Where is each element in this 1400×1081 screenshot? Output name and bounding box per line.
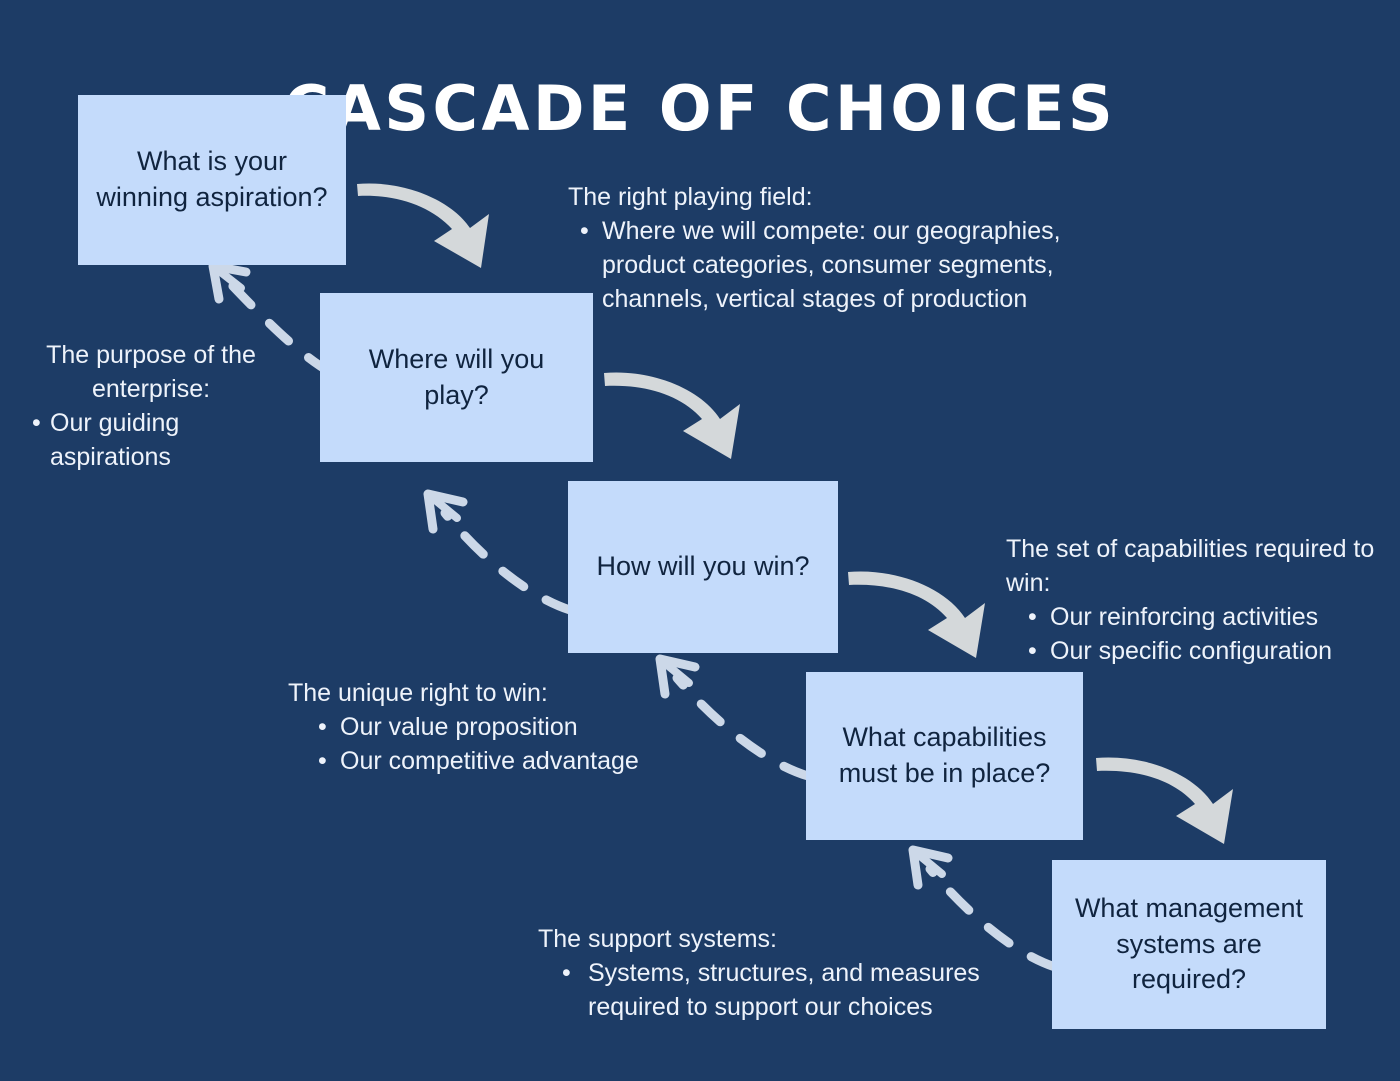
note-bullet: Systems, structures, and measures requir… — [548, 956, 1048, 1024]
note-right-to-win-heading: The unique right to win: — [288, 676, 698, 710]
node-management-systems[interactable]: What management systems are required? — [1052, 860, 1326, 1029]
note-right-to-win-bullets: Our value proposition Our competitive ad… — [306, 710, 698, 778]
node-label: How will you win? — [596, 549, 809, 585]
infographic-canvas: CASCADE OF CHOICES What is your winning … — [0, 0, 1400, 1081]
note-bullet: Our value proposition — [306, 710, 698, 744]
solid-arrow-capabilities-to-systems — [1096, 757, 1233, 844]
note-bullet: Our specific configuration — [1016, 634, 1396, 668]
note-bullet: Where we will compete: our geographies, … — [568, 214, 1128, 316]
note-right-to-win: The unique right to win: Our value propo… — [288, 676, 698, 778]
note-purpose: The purpose of the enterprise: Our guidi… — [20, 338, 282, 474]
note-playing-field-bullets: Where we will compete: our geographies, … — [568, 214, 1128, 316]
note-capabilities: The set of capabilities required to win:… — [1006, 532, 1396, 668]
node-where-to-play[interactable]: Where will you play? — [320, 293, 593, 462]
node-how-to-win[interactable]: How will you win? — [568, 481, 838, 653]
solid-arrow-aspiration-to-play — [357, 183, 489, 268]
node-label: What is your winning aspiration? — [92, 144, 332, 216]
node-label: What management systems are required? — [1066, 891, 1312, 999]
node-label: Where will you play? — [334, 342, 579, 414]
note-bullet: Our competitive advantage — [306, 744, 698, 778]
note-support: The support systems: Systems, structures… — [538, 922, 1048, 1024]
note-bullet: Our reinforcing activities — [1016, 600, 1396, 634]
note-bullet: Our guiding aspirations — [20, 406, 282, 474]
node-capabilities[interactable]: What capabilities must be in place? — [806, 672, 1083, 840]
solid-arrow-play-to-win — [604, 372, 740, 459]
note-support-heading: The support systems: — [538, 922, 1048, 956]
note-support-bullets: Systems, structures, and measures requir… — [548, 956, 1048, 1024]
note-playing-field-heading: The right playing field: — [568, 180, 1128, 214]
node-label: What capabilities must be in place? — [820, 720, 1069, 792]
node-winning-aspiration[interactable]: What is your winning aspiration? — [78, 95, 346, 265]
note-purpose-heading: The purpose of the enterprise: — [20, 338, 282, 406]
note-playing-field: The right playing field: Where we will c… — [568, 180, 1128, 316]
dashed-arrow-win-to-play — [428, 494, 570, 610]
note-purpose-bullets: Our guiding aspirations — [20, 406, 282, 474]
note-capabilities-bullets: Our reinforcing activities Our specific … — [1016, 600, 1396, 668]
solid-arrow-win-to-capabilities — [848, 571, 985, 658]
note-capabilities-heading: The set of capabilities required to win: — [1006, 532, 1396, 600]
